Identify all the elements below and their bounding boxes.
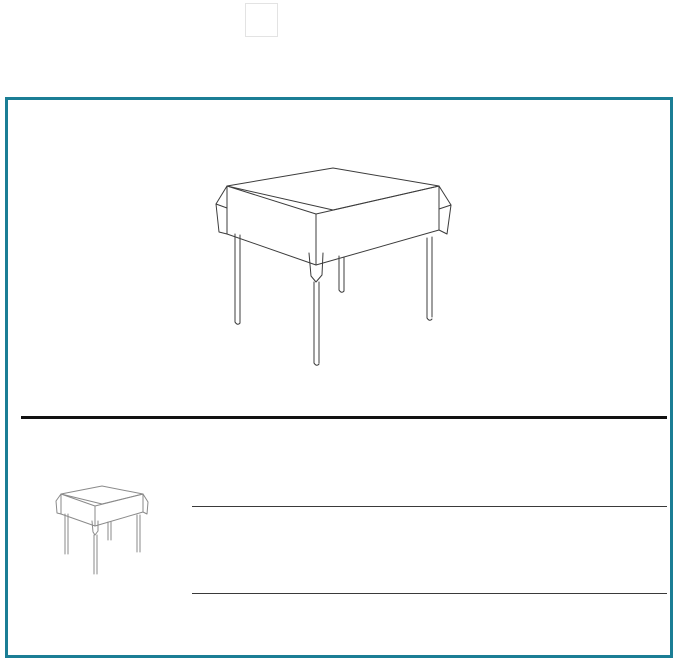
color-swatch-emerald	[461, 45, 494, 79]
swatch-cell	[317, 45, 353, 79]
square-table-thumbnail-icon	[39, 478, 164, 583]
swatch-cell	[605, 45, 641, 79]
info-panel	[5, 97, 673, 658]
color-swatch-denim-blue	[389, 45, 422, 79]
swatch-cell	[461, 3, 497, 37]
swatch-cell	[353, 3, 389, 37]
color-swatch-black	[605, 45, 638, 79]
swatch-cell	[245, 3, 281, 37]
color-swatch-navy	[425, 45, 458, 79]
color-swatch-teal	[353, 45, 386, 79]
swatch-cell	[353, 45, 389, 79]
swatch-cell	[497, 45, 533, 79]
square-table-illustration	[183, 158, 483, 378]
color-swatch-dark-green	[497, 45, 530, 79]
fitted-table-size-cell	[359, 602, 589, 615]
swatch-cell	[281, 3, 317, 37]
swatch-cell	[425, 3, 461, 37]
swatch-cell	[281, 45, 317, 79]
tablecloth-size-cell	[192, 515, 362, 528]
color-swatch-beige	[317, 3, 350, 37]
swatch-cell	[389, 3, 425, 37]
seating-cell	[585, 420, 665, 507]
color-swatch-white	[245, 3, 278, 37]
color-swatch-silver-grey	[389, 3, 422, 37]
tablecloth-size-cell	[192, 428, 362, 441]
seating-cell	[585, 594, 665, 672]
swatch-cell	[533, 3, 569, 37]
color-swatch-light-blue	[281, 45, 314, 79]
swatch-cell	[605, 3, 641, 37]
size-table	[17, 380, 667, 414]
header	[0, 0, 679, 88]
fitted-table-size-cell	[359, 428, 589, 441]
tablecloth-size-cell	[192, 602, 362, 615]
swatch-cell	[569, 45, 605, 79]
table-row	[185, 594, 667, 672]
table-header-row	[17, 380, 667, 414]
swatch-cell	[533, 45, 569, 79]
swatch-cell	[317, 3, 353, 37]
swatch-cell	[389, 45, 425, 79]
swatch-cell	[461, 45, 497, 79]
swatch-cell	[425, 45, 461, 79]
color-swatch-purple	[245, 45, 278, 79]
color-swatch-lavender	[605, 3, 638, 37]
color-swatch-light-yellow	[461, 3, 494, 37]
color-swatch-ivory	[281, 3, 314, 37]
color-swatch-charcoal-grey	[533, 45, 566, 79]
color-swatch-dark-brown	[569, 45, 602, 79]
color-swatch-aqua	[317, 45, 350, 79]
color-swatch-taupe	[353, 3, 386, 37]
color-swatch-orange	[533, 3, 566, 37]
product-infographic	[0, 0, 679, 672]
table-row	[185, 420, 667, 507]
fitted-table-size-cell	[359, 515, 589, 528]
table-row	[185, 507, 667, 594]
swatch-cell	[569, 3, 605, 37]
color-swatch-baby-pink	[425, 3, 458, 37]
swatch-cell	[497, 3, 533, 37]
table-body	[17, 420, 667, 672]
table-shape-cell	[17, 420, 185, 672]
header-divider	[21, 416, 667, 419]
swatch-cell	[245, 45, 281, 79]
color-swatch-grid	[245, 3, 641, 79]
color-swatch-gold-yellow	[497, 3, 530, 37]
seating-cell	[585, 507, 665, 594]
color-swatch-red	[569, 3, 602, 37]
